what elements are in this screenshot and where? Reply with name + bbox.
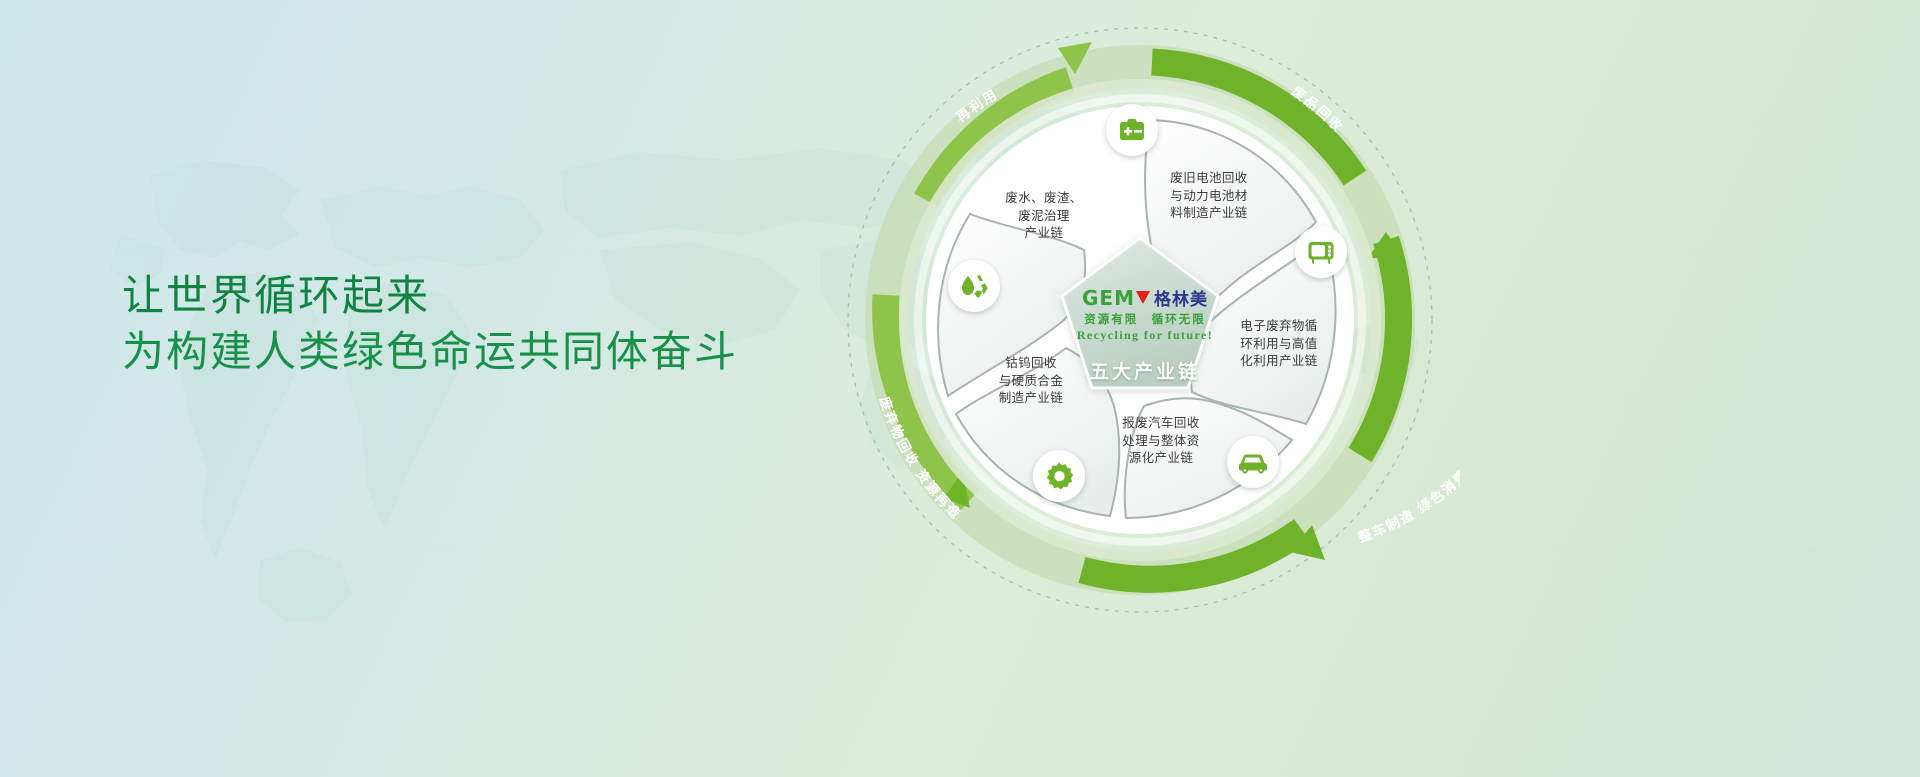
bubble-television[interactable]	[1295, 226, 1347, 278]
slogan-line-1: 让世界循环起来	[122, 268, 882, 324]
bubble-recycle-drop[interactable]	[948, 260, 1000, 312]
slogan-line-2: 为构建人类绿色命运共同体奋斗	[122, 324, 882, 380]
ring-label-green-consume: 整车制造 绿色消费	[1356, 465, 1460, 545]
car-icon	[1237, 450, 1269, 474]
recycle-drop-icon	[958, 271, 990, 301]
gem-tagline-en: Recycling for future!	[1060, 328, 1230, 343]
five-industry-chain-diagram: 废品回收 材料制造 整车制造 绿色消费 废弃物回收 资源再造 再利用 废旧电池回…	[820, 0, 1460, 640]
gear-icon	[1044, 461, 1074, 491]
gem-wordmark: GEM	[1082, 288, 1135, 308]
gem-logo: GEM 格林美	[1060, 285, 1230, 310]
petal-label-ewaste: 电子废弃物循 环利用与高值 化利用产业链	[1220, 318, 1338, 371]
battery-icon	[1117, 117, 1147, 143]
petal-label-vehicle: 报废汽车回收 处理与整体资 源化产业链	[1102, 415, 1220, 468]
television-icon	[1306, 238, 1336, 266]
center-title: 五大产业链	[1060, 357, 1230, 384]
petal-label-water: 废水、废渣、 废泥治理 产业链	[985, 190, 1103, 243]
bubble-gear[interactable]	[1033, 450, 1085, 502]
banner-slogan: 让世界循环起来 为构建人类绿色命运共同体奋斗	[122, 268, 882, 380]
bubble-car[interactable]	[1227, 436, 1279, 488]
petal-label-battery: 废旧电池回收 与动力电池材 料制造产业链	[1150, 170, 1268, 223]
gem-tagline-cn: 资源有限 循环无限	[1060, 311, 1230, 327]
gem-triangle-icon	[1136, 291, 1150, 304]
gem-chinese-name: 格林美	[1154, 285, 1208, 310]
center-logo-block: GEM 格林美 资源有限 循环无限 Recycling for future! …	[1060, 285, 1230, 384]
bubble-battery[interactable]	[1106, 104, 1158, 156]
